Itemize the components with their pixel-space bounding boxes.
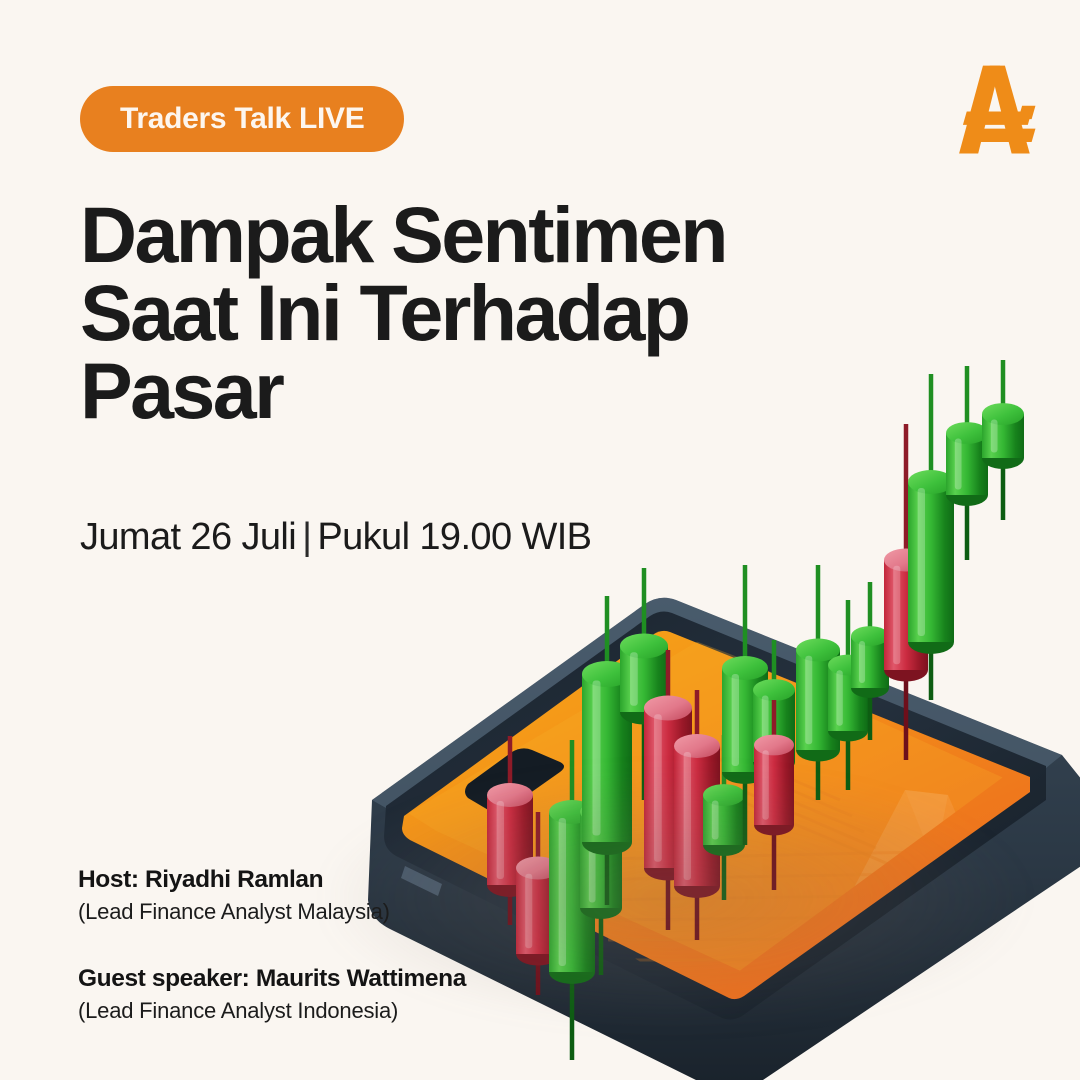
schedule-separator: |: [296, 516, 317, 558]
event-date: Jumat 26 Juli: [80, 516, 296, 558]
headline-line-3: Pasar: [80, 352, 840, 430]
page-title: Dampak Sentimen Saat Ini Terhadap Pasar: [80, 196, 840, 431]
guest-name: Guest speaker: Maurits Wattimena: [78, 965, 466, 993]
host-role: (Lead Finance Analyst Malaysia): [78, 899, 466, 925]
event-time: Pukul 19.00 WIB: [317, 516, 591, 558]
host-name: Host: Riyadhi Ramlan: [78, 866, 466, 894]
live-badge: Traders Talk LIVE: [80, 86, 404, 152]
event-schedule: Jumat 26 Juli|Pukul 19.00 WIB: [80, 516, 591, 559]
ascendex-a-logo-icon: [940, 58, 1045, 163]
headline-line-1: Dampak Sentimen: [80, 196, 840, 274]
poster-text-layer: Traders Talk LIVE Dampak Sentimen Saat I…: [0, 0, 1080, 1080]
speaker-credits: Host: Riyadhi Ramlan (Lead Finance Analy…: [78, 866, 466, 1024]
poster-canvas: Traders Talk LIVE Dampak Sentimen Saat I…: [0, 0, 1080, 1080]
headline-line-2: Saat Ini Terhadap: [80, 274, 840, 352]
guest-role: (Lead Finance Analyst Indonesia): [78, 998, 466, 1024]
